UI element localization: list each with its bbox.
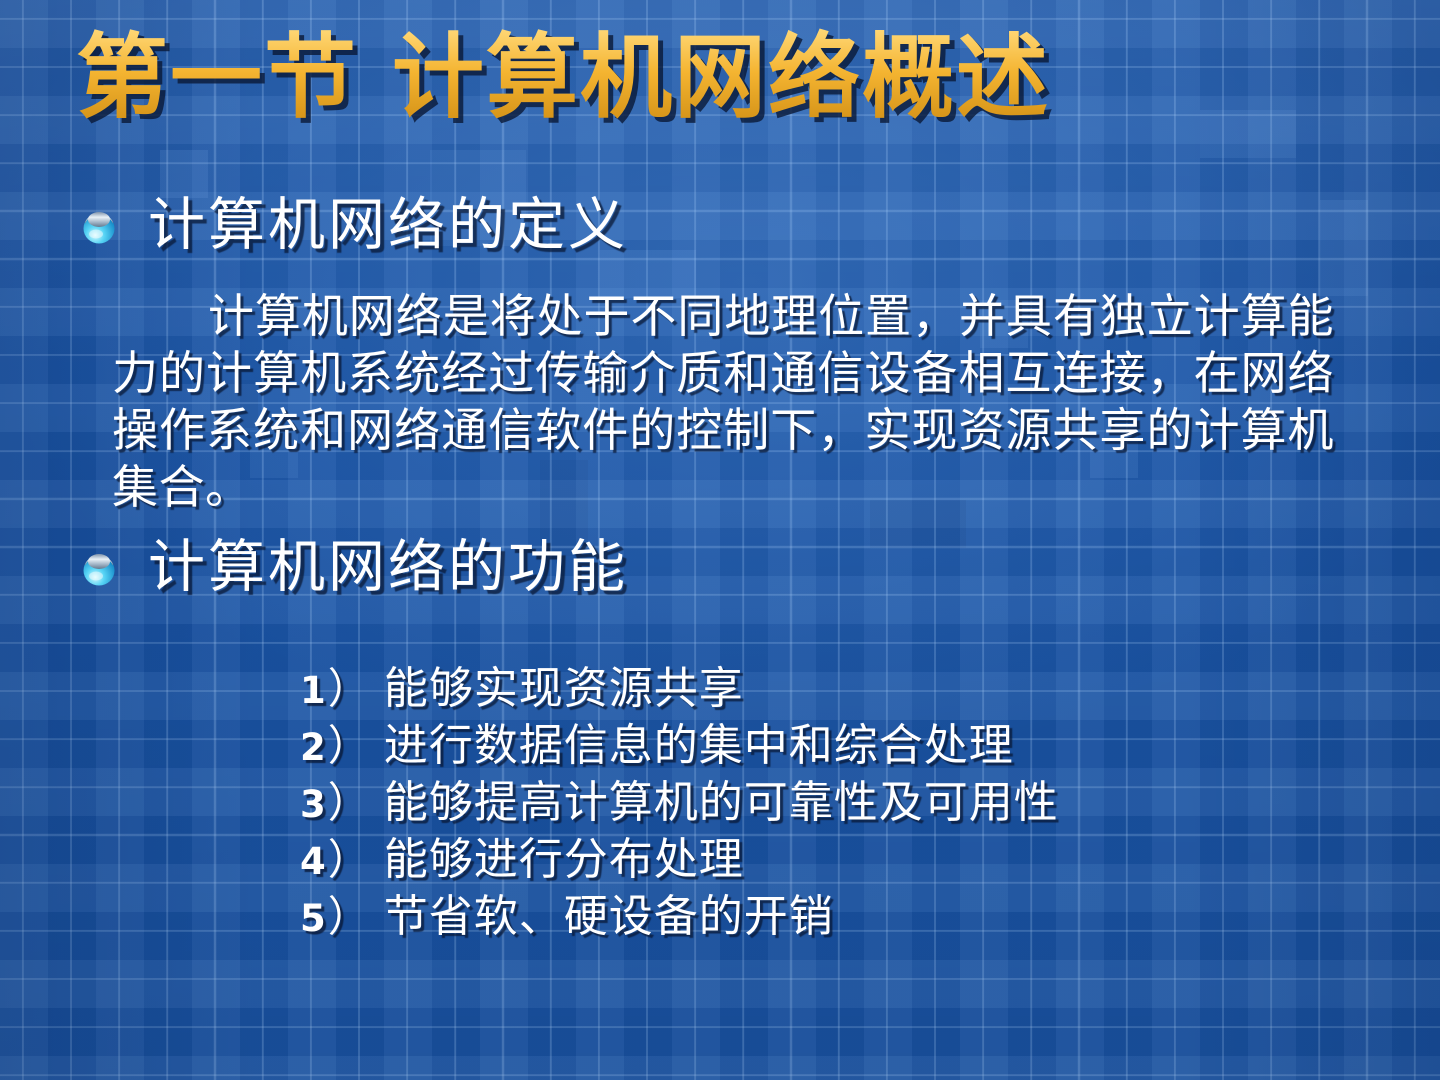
bullet-heading-functions: 计算机网络的功能 bbox=[78, 535, 628, 601]
list-item: 2 ） 进行数据信息的集中和综合处理 bbox=[300, 712, 1059, 768]
list-item-text: 节省软、硬设备的开销 bbox=[384, 889, 834, 945]
bullet-heading-definition: 计算机网络的定义 bbox=[78, 193, 628, 259]
list-item-paren: ） bbox=[328, 826, 370, 887]
blue-sphere-bullet-icon bbox=[78, 547, 120, 589]
list-item-paren: ） bbox=[328, 769, 370, 830]
slide-content: 第一节 计算机网络概述 bbox=[0, 0, 1440, 1080]
function-list: 1 ） 能够实现资源共享 2 ） 进行数据信息的集中和综合处理 3 ） 能够提高… bbox=[300, 655, 1059, 940]
presentation-slide: 第一节 计算机网络概述 bbox=[0, 0, 1440, 1080]
list-item-number: 5 bbox=[300, 897, 326, 940]
blue-sphere-bullet-icon bbox=[78, 205, 120, 247]
section-heading-text: 计算机网络的定义 bbox=[148, 193, 628, 259]
list-item-text: 能够进行分布处理 bbox=[384, 832, 744, 888]
list-item: 5 ） 节省软、硬设备的开销 bbox=[300, 883, 1059, 939]
list-item-paren: ） bbox=[328, 883, 370, 944]
definition-paragraph: 计算机网络是将处于不同地理位置，并具有独立计算能力的计算机系统经过传输介质和通信… bbox=[112, 288, 1334, 516]
list-item-number: 3 bbox=[300, 783, 326, 826]
list-item-number: 4 bbox=[300, 840, 326, 883]
list-item: 3 ） 能够提高计算机的可靠性及可用性 bbox=[300, 769, 1059, 825]
list-item-number: 1 bbox=[300, 669, 326, 712]
list-item-number: 2 bbox=[300, 726, 326, 769]
list-item-paren: ） bbox=[328, 655, 370, 716]
list-item: 1 ） 能够实现资源共享 bbox=[300, 655, 1059, 711]
list-item: 4 ） 能够进行分布处理 bbox=[300, 826, 1059, 882]
list-item-text: 进行数据信息的集中和综合处理 bbox=[384, 718, 1014, 774]
slide-title: 第一节 计算机网络概述 bbox=[76, 28, 1050, 127]
list-item-text: 能够提高计算机的可靠性及可用性 bbox=[384, 775, 1059, 831]
section-heading-text: 计算机网络的功能 bbox=[148, 535, 628, 601]
list-item-text: 能够实现资源共享 bbox=[384, 661, 744, 717]
list-item-paren: ） bbox=[328, 712, 370, 773]
